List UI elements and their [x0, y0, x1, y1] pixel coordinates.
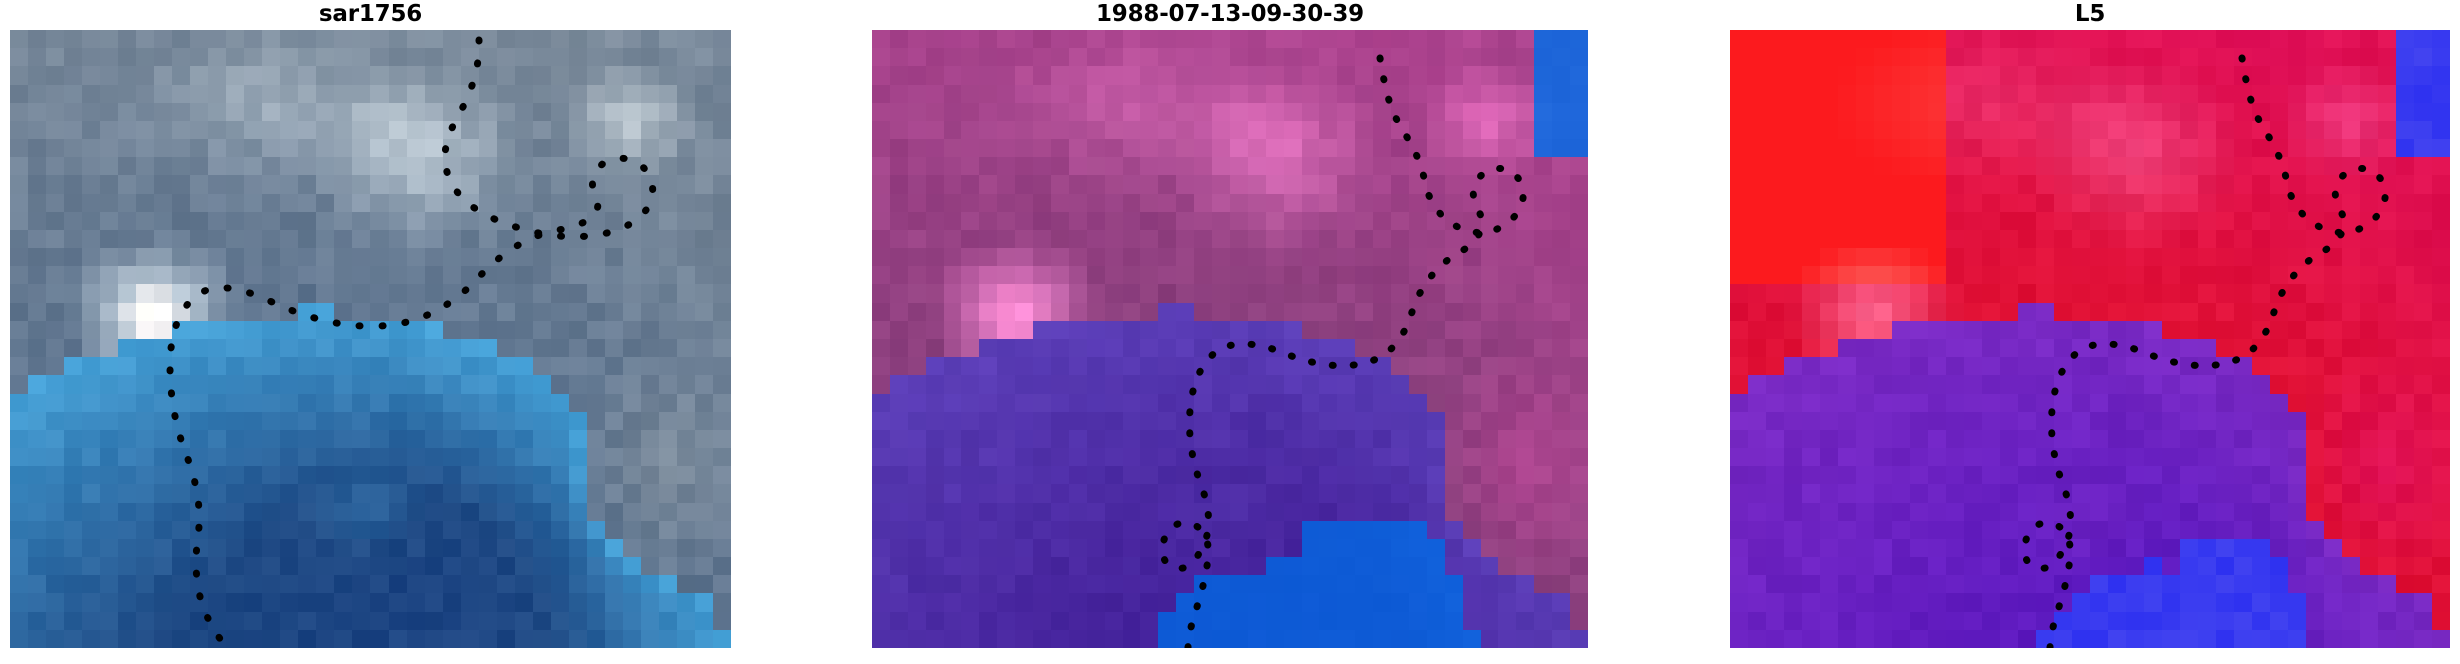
panel-sar1756[interactable] [10, 30, 731, 648]
panel-l5[interactable] [1730, 30, 2450, 648]
shoreline-overlay-2 [872, 30, 1588, 648]
panel-title-3: L5 [1730, 0, 2450, 30]
panel-title-1: sar1756 [10, 0, 731, 30]
panel-classified[interactable]: sand whitewater water shoreline referenc… [872, 30, 1588, 648]
shoreline-overlay-3 [1730, 30, 2450, 648]
panel-title-2: 1988-07-13-09-30-39 [872, 0, 1588, 30]
figure-canvas: sar1756 1988-07-13-09-30-39 sand [0, 0, 2460, 664]
shoreline-overlay-1 [10, 30, 731, 648]
